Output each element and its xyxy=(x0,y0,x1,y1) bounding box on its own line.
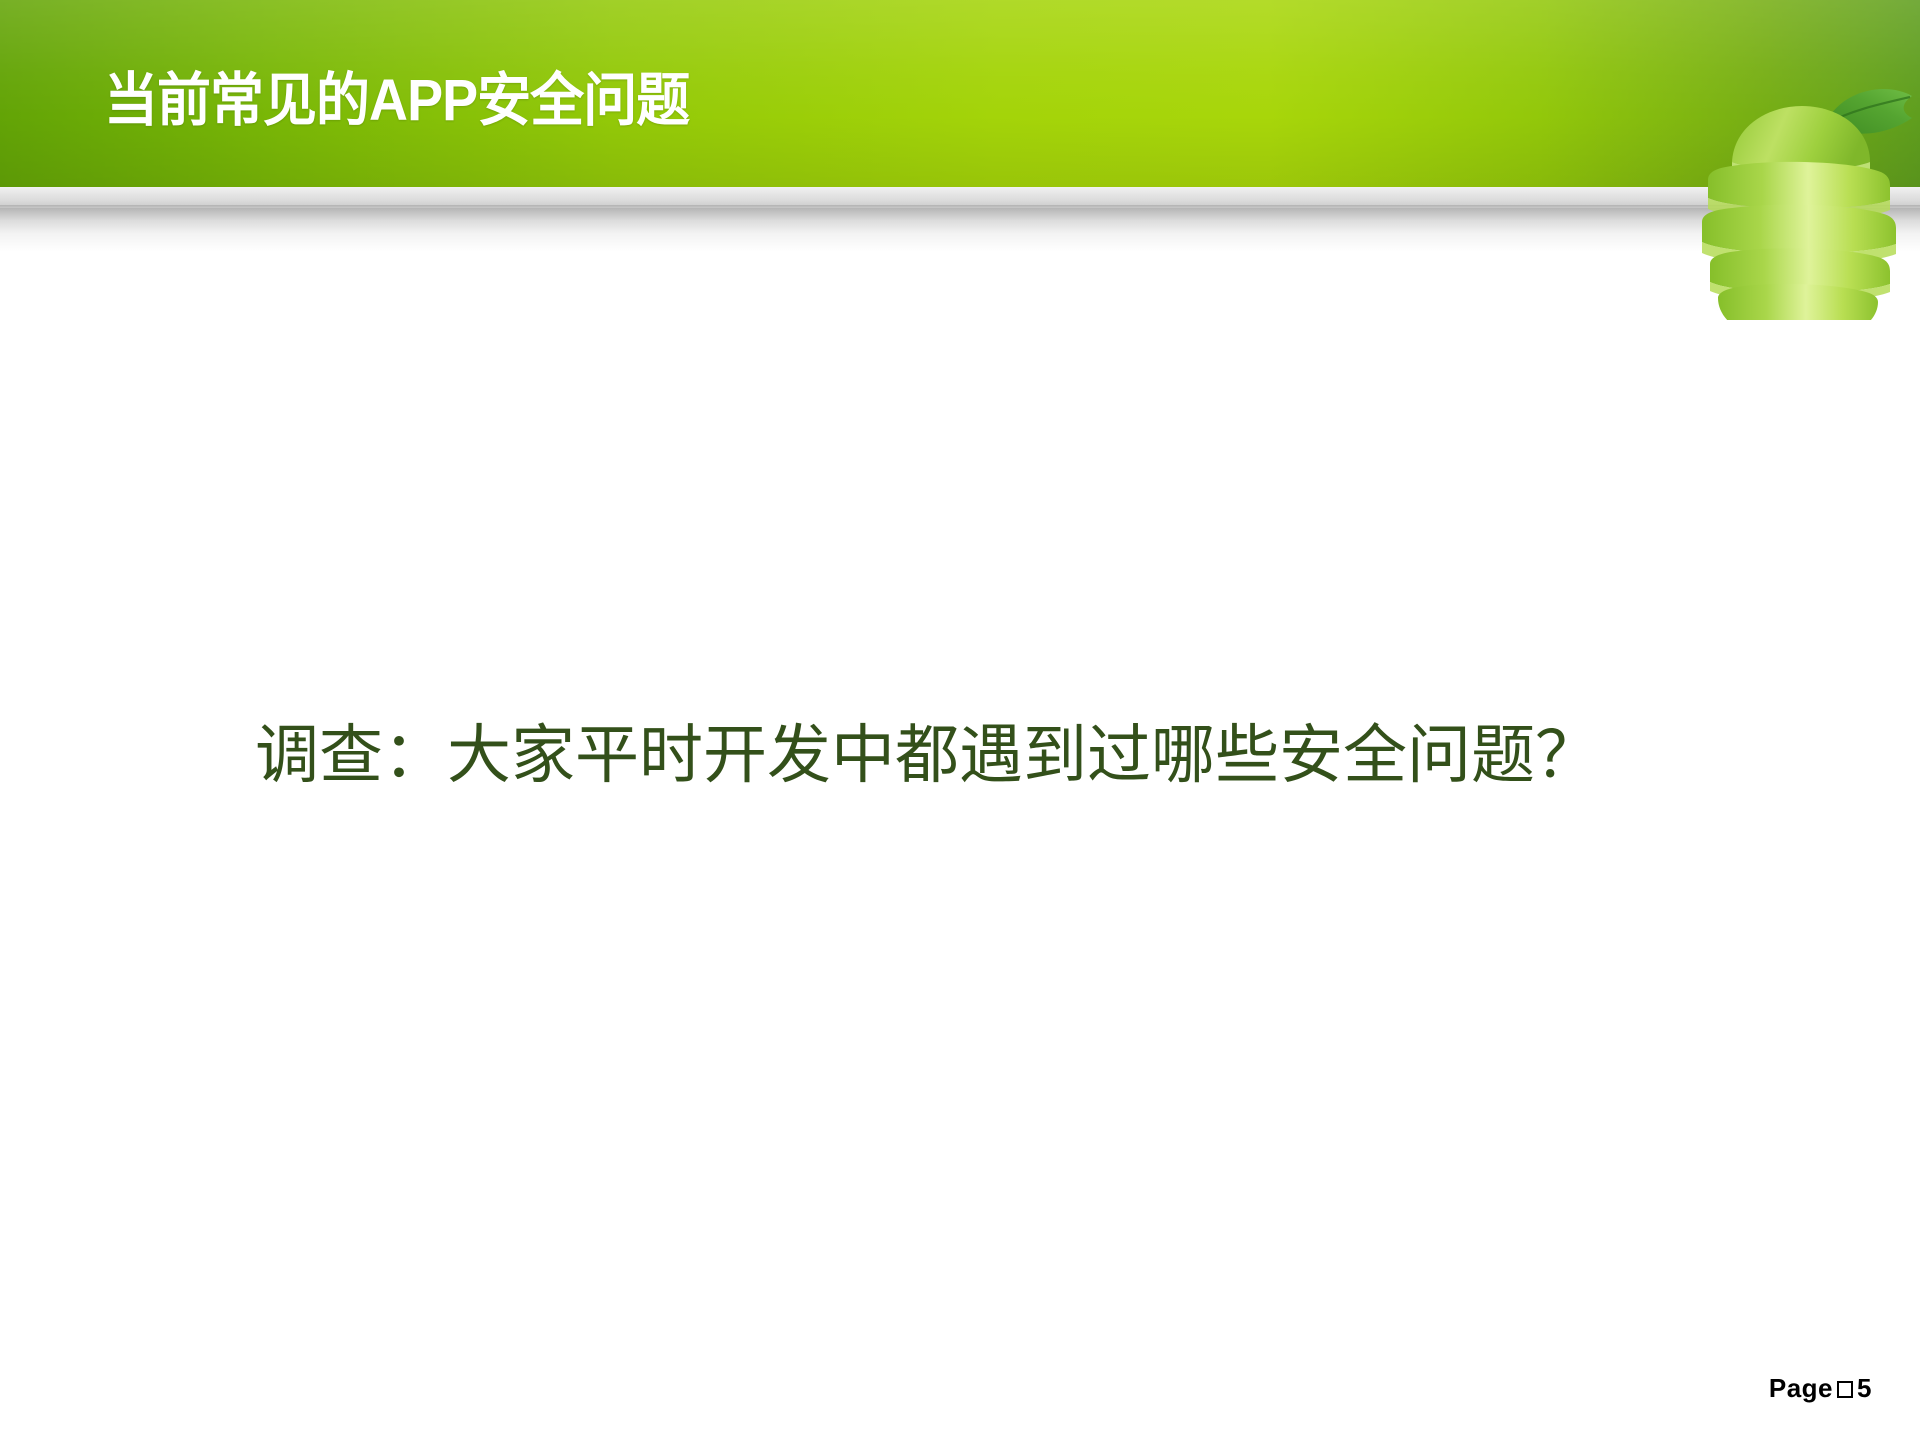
sliced-apple-icon xyxy=(1612,40,1920,320)
missing-glyph-icon xyxy=(1837,1381,1853,1398)
page-label: Page xyxy=(1769,1373,1833,1403)
slide-canvas: 当前常见的APP安全问题 xyxy=(0,0,1920,1440)
page-number: 5 xyxy=(1857,1373,1872,1403)
page-number-footer: Page5 xyxy=(1769,1372,1872,1404)
page-title: 当前常见的APP安全问题 xyxy=(104,66,689,136)
sliced-apple-image xyxy=(1612,40,1920,320)
survey-question-text: 调查：大家平时开发中都遇到过哪些安全问题？ xyxy=(255,712,1599,798)
